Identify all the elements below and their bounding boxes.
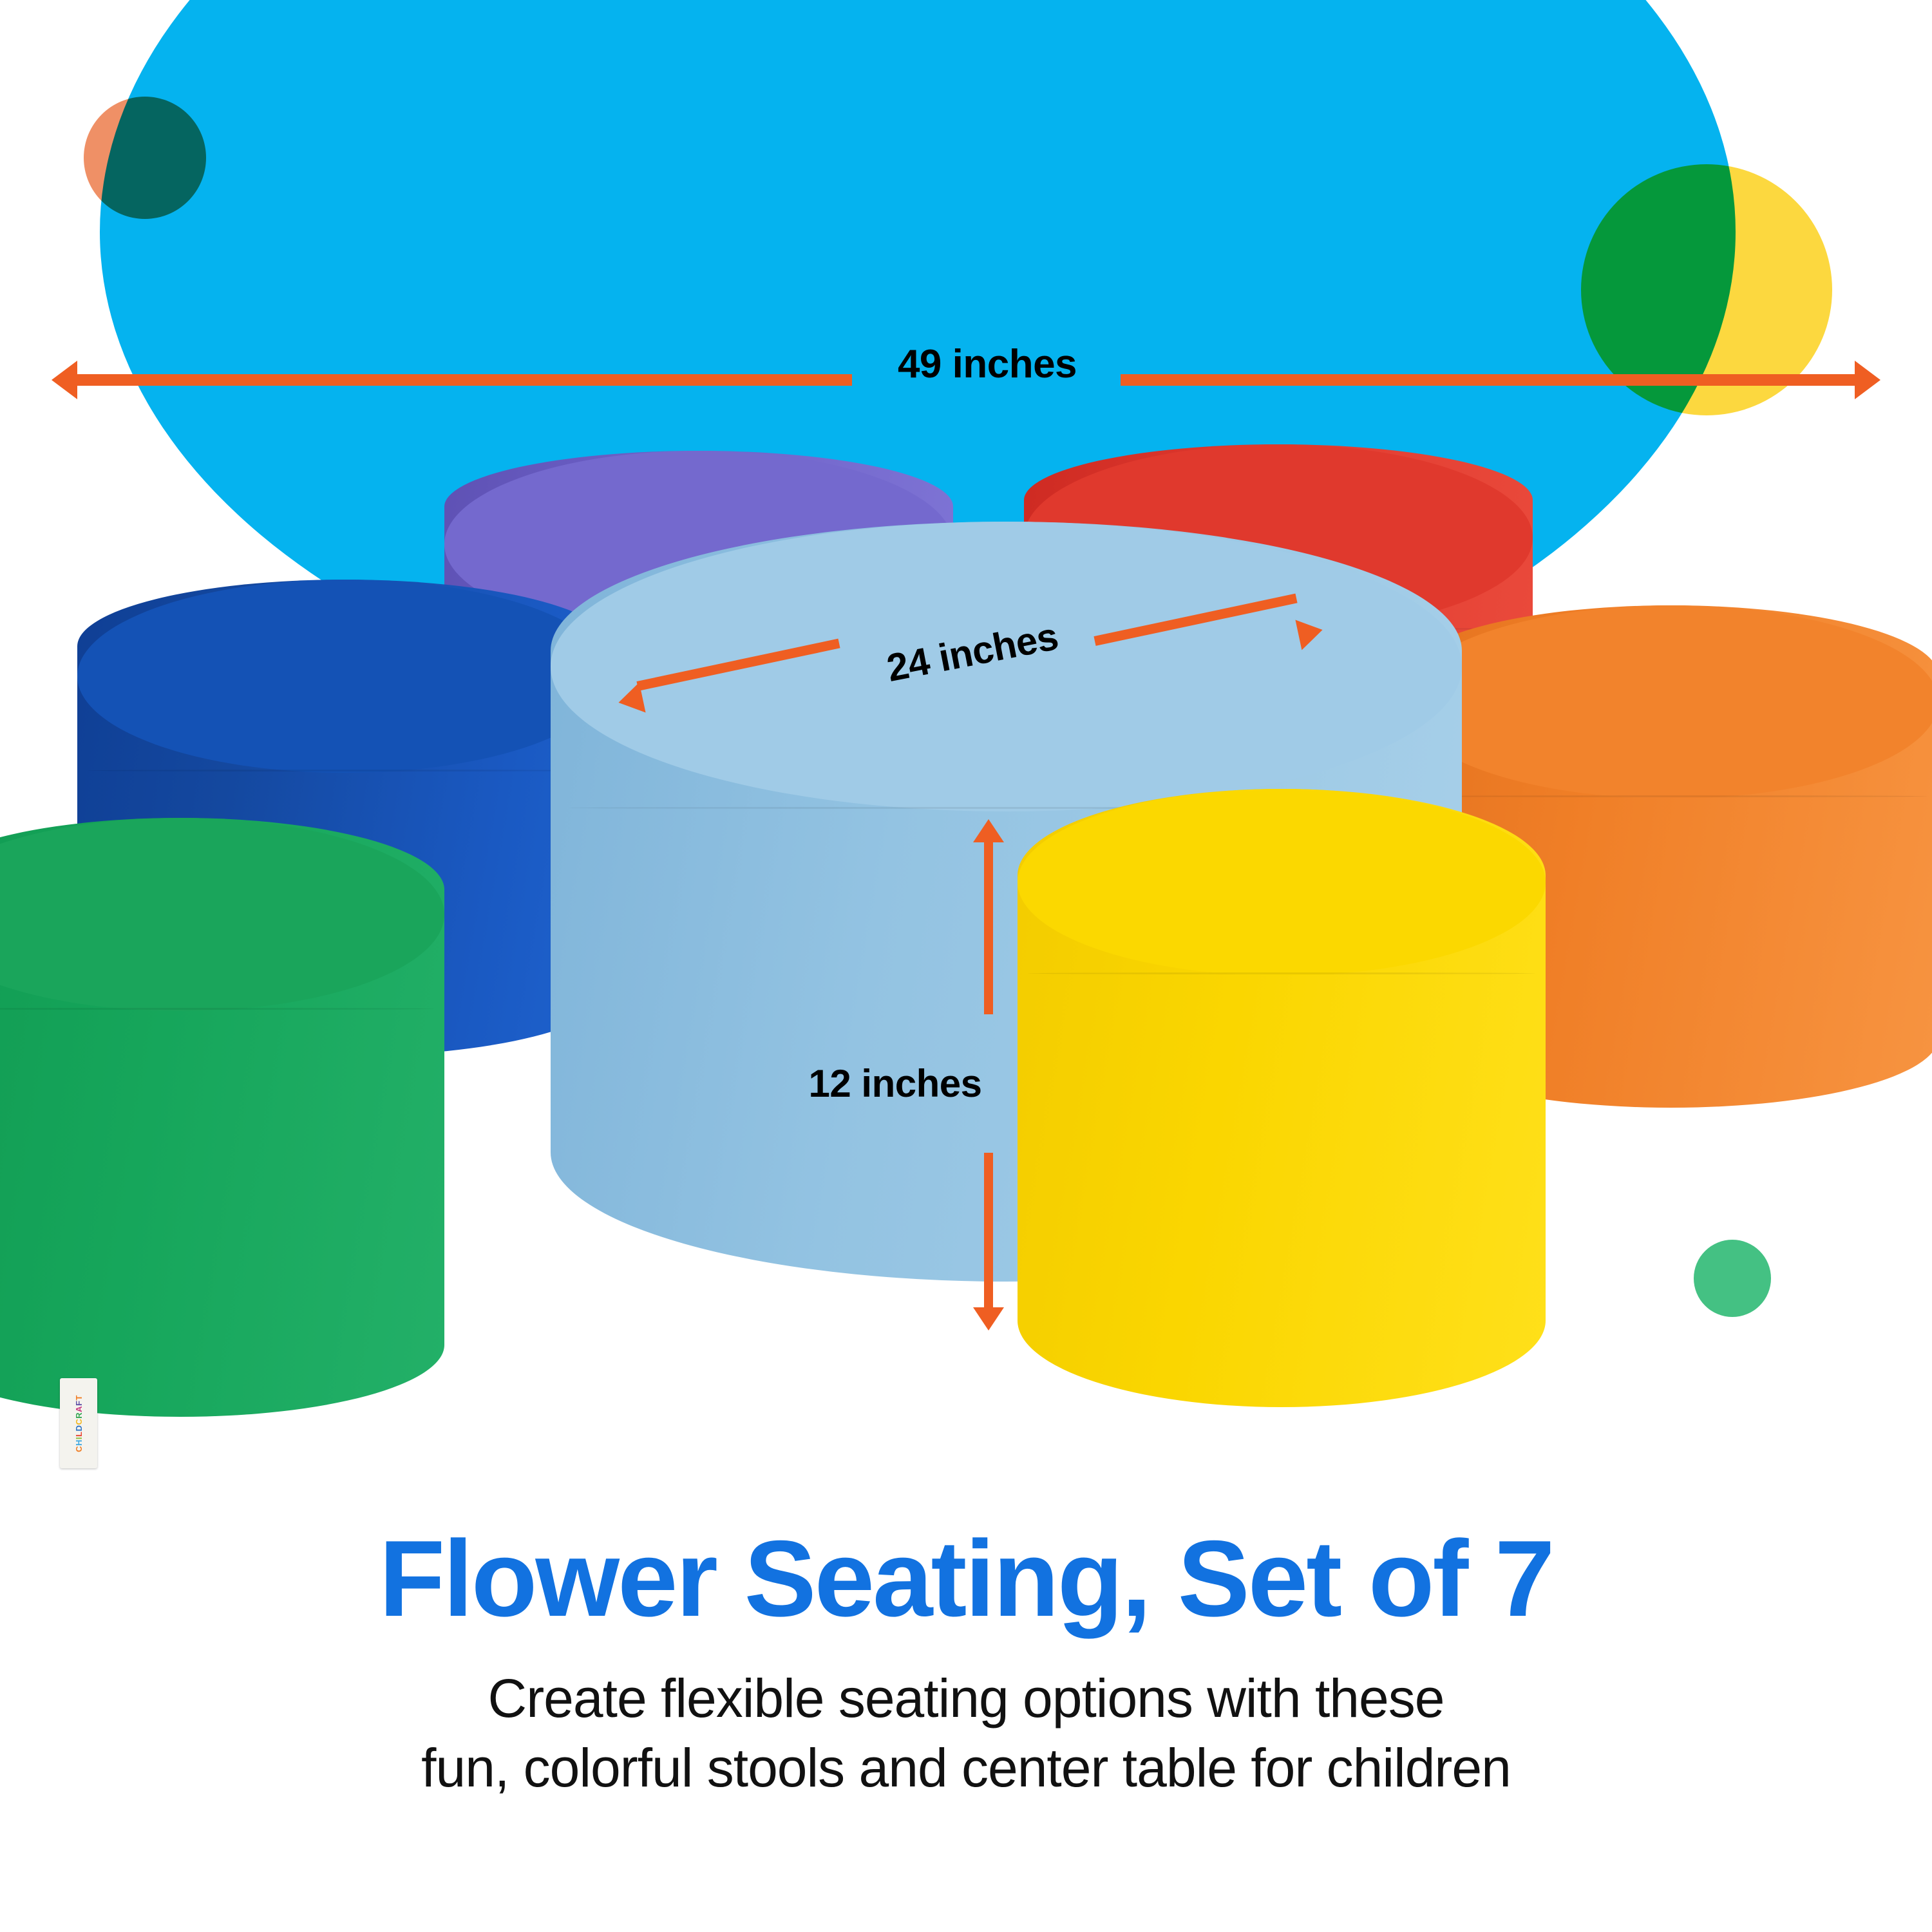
diameter-arrow-line-left (636, 639, 840, 691)
overall-width-label: 49 inches (852, 341, 1122, 387)
table-diameter-label: 24 inches (835, 605, 1109, 700)
subtitle-line-1: Create flexible seating options with the… (0, 1664, 1932, 1734)
width-arrowhead-right (1855, 361, 1880, 399)
diameter-arrowhead-right (1295, 615, 1325, 650)
flower-seating-arrangement (0, 412, 1932, 1455)
page-subtitle: Create flexible seating options with the… (0, 1664, 1932, 1803)
page-title: Flower Seating, Set of 7 (0, 1523, 1932, 1634)
width-arrowhead-left (52, 361, 77, 399)
height-arrow-line-bottom (984, 1153, 993, 1307)
height-label: 12 inches (757, 1061, 1034, 1106)
stool-royal-blue-seam (88, 770, 601, 772)
childcraft-brand-tag: CHILDCRAFT (60, 1378, 97, 1468)
stool-yellow-seam (1028, 972, 1535, 974)
caption-block: Flower Seating, Set of 7 Create flexible… (0, 1523, 1932, 1803)
stool-yellow-seat-top (1018, 789, 1546, 976)
height-arrowhead-bottom (973, 1307, 1004, 1331)
stool-orange-seat-top (1404, 605, 1932, 799)
width-arrow-line-right (1121, 374, 1868, 386)
product-marketing-image: CHILDCRAFT 49 inches 24 inches 12 inches… (0, 0, 1932, 1932)
stool-yellow (1018, 789, 1546, 1407)
stool-royal-blue-seat-top (77, 580, 612, 773)
height-arrowhead-top (973, 819, 1004, 842)
height-arrow-line-top (984, 837, 993, 1014)
salmon-circle-decoration (84, 97, 206, 219)
width-arrow-line-left (63, 374, 852, 386)
diameter-arrow-line-right (1094, 594, 1297, 646)
table-diameter-annotation: 24 inches (618, 599, 1346, 747)
stool-green (0, 818, 444, 1417)
childcraft-logo-text: CHILDCRAFT (74, 1395, 84, 1452)
subtitle-line-2: fun, colorful stools and center table fo… (0, 1734, 1932, 1803)
